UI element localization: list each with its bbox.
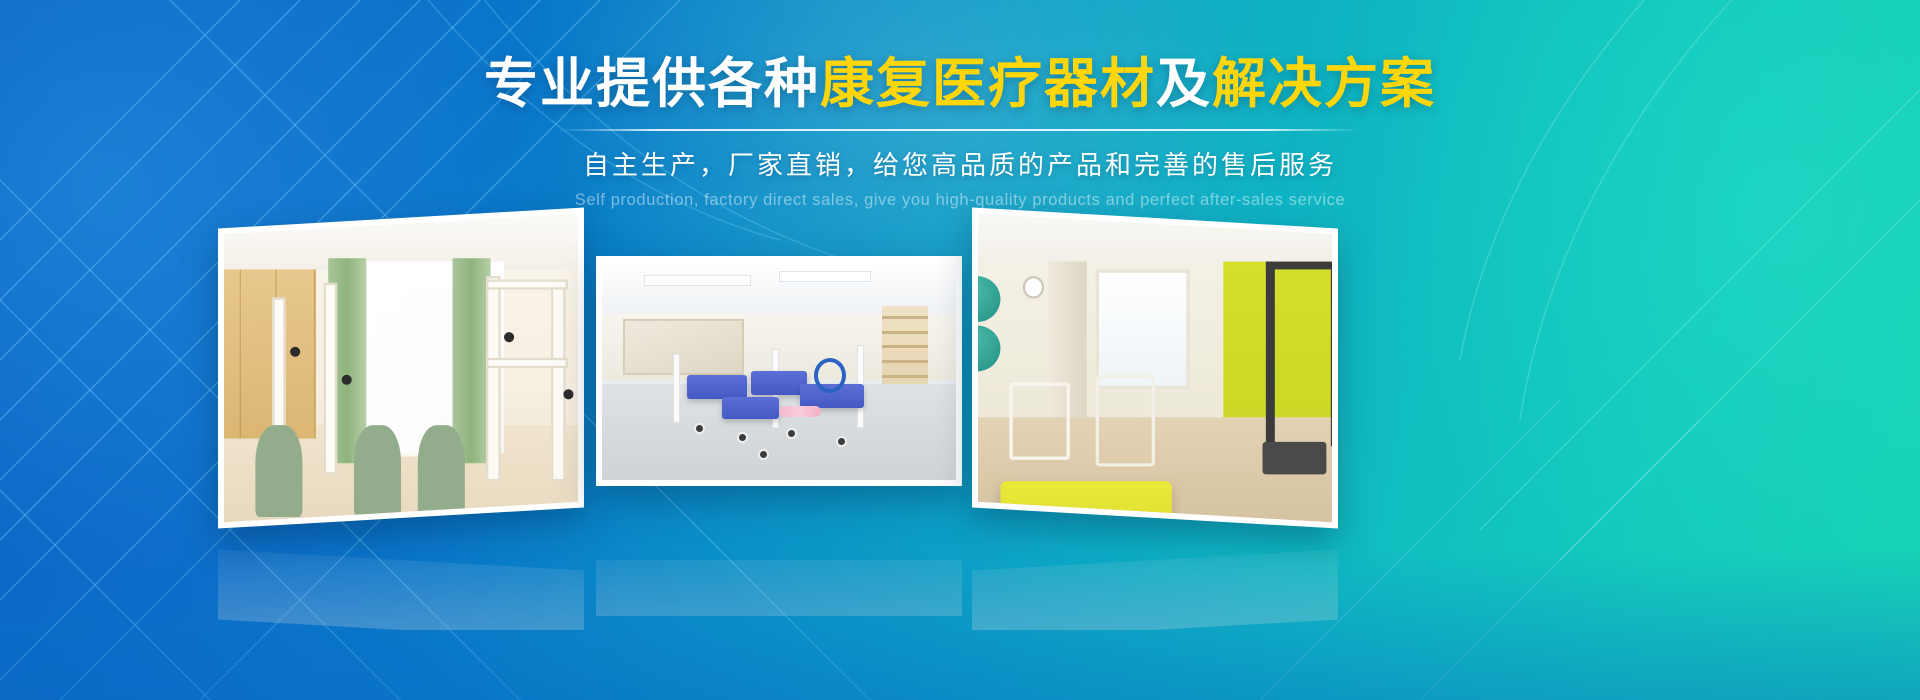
therapy-hall-center-image (602, 262, 956, 480)
photo-gallery (0, 0, 1920, 700)
photo-panel-left[interactable] (218, 207, 584, 528)
rehab-training-room-left-image (224, 214, 578, 522)
gym-room-right-image (978, 214, 1332, 522)
photo-panel-center[interactable] (596, 256, 962, 486)
photo-panel-right[interactable] (972, 207, 1338, 528)
promotional-banner: 专业提供各种康复医疗器材及解决方案 自主生产，厂家直销，给您高品质的产品和完善的… (0, 0, 1920, 700)
